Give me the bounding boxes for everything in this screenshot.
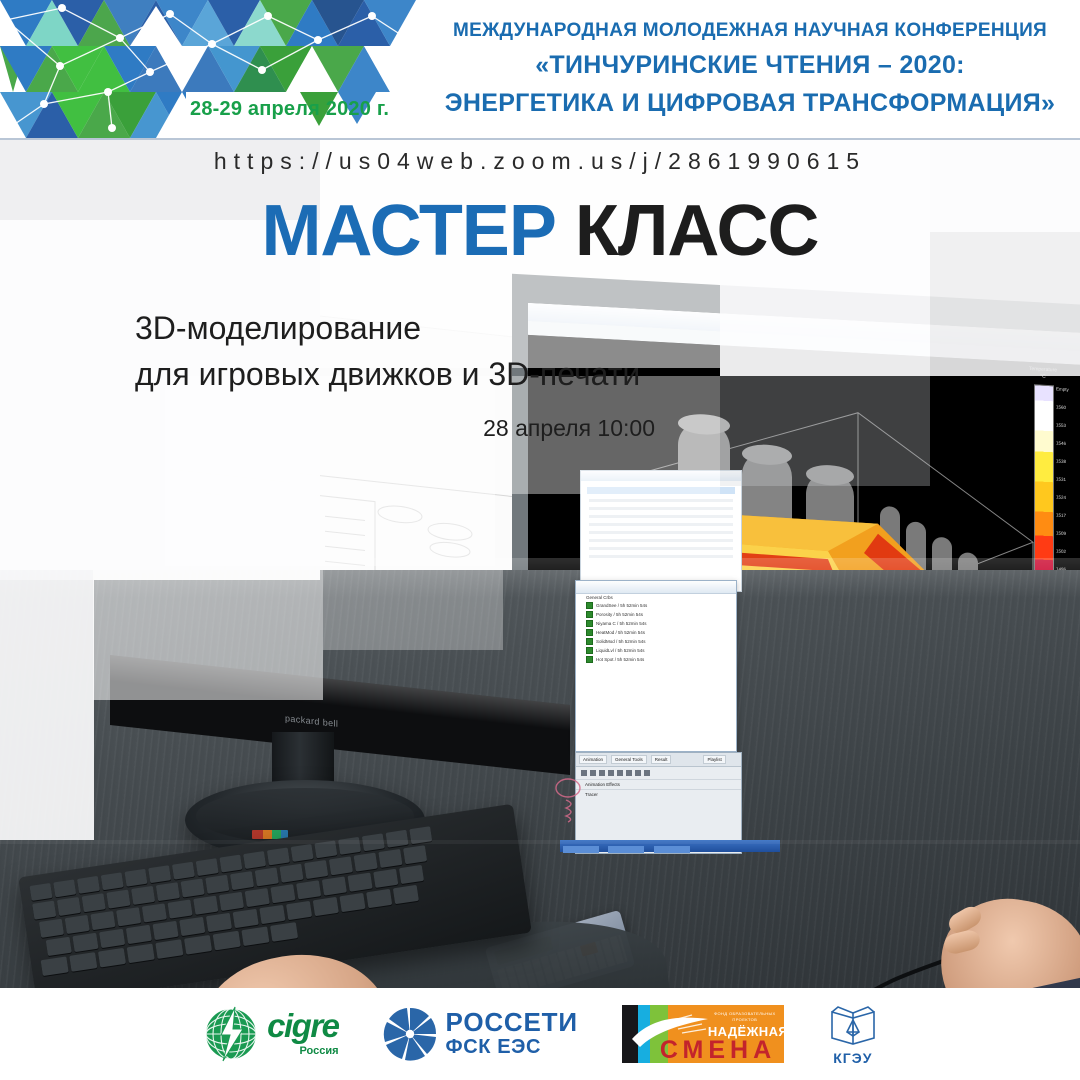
tree-item-label: GrandSee / 5h 52min 54s [596, 603, 647, 608]
keyboard-key[interactable] [409, 826, 432, 844]
keyboard-key[interactable] [366, 889, 392, 908]
keyboard-key[interactable] [373, 869, 398, 888]
result-tree-rows[interactable]: General CrbsGrandSee / 5h 52min 54sPoros… [576, 594, 736, 664]
smena-badge: ФОНД ОБРАЗОВАТЕЛЬНЫХ ПРОЕКТОВ НАДЁЖНАЯ С… [622, 1005, 784, 1063]
panel-tab[interactable]: Animation [579, 755, 607, 764]
keyboard-key[interactable] [101, 872, 124, 890]
keyboard-key[interactable] [41, 956, 69, 976]
keyboard-key[interactable] [57, 897, 81, 916]
keyboard-key[interactable] [399, 865, 424, 884]
keyboard-key[interactable] [82, 893, 106, 912]
keyboard-key[interactable] [241, 926, 269, 946]
keyboard-key[interactable] [179, 917, 205, 936]
conference-header-banner: 28-29 апреля 2020 г. МЕЖДУНАРОДНАЯ МОЛОД… [0, 0, 1080, 140]
conference-title-block: МЕЖДУНАРОДНАЯ МОЛОДЕЖНАЯ НАУЧНАЯ КОНФЕРЕ… [420, 0, 1080, 140]
animation-transport-controls[interactable] [576, 767, 741, 779]
tree-item[interactable]: GrandSee / 5h 52min 54s [576, 601, 736, 610]
colorbar-tick: 1517 [1056, 513, 1080, 519]
keyboard-key[interactable] [296, 880, 321, 899]
keyboard-key[interactable] [339, 893, 365, 912]
tree-item[interactable]: General Crbs [576, 594, 736, 601]
keyboard-key[interactable] [124, 869, 147, 887]
page-title: МАСТЕР КЛАСС [0, 195, 1080, 267]
colorbar-tick: 1546 [1056, 441, 1080, 447]
keyboard-key[interactable] [348, 873, 373, 892]
keyboard-key[interactable] [106, 890, 130, 909]
tree-item-checkbox[interactable] [586, 611, 593, 618]
keyboard-key[interactable] [184, 935, 212, 955]
cigre-name: cigre [267, 1011, 338, 1041]
panel-tab[interactable]: Result [651, 755, 672, 764]
colorbar-tick: 1531 [1056, 477, 1080, 483]
rosseti-fan-icon [383, 1007, 437, 1061]
keyboard-key[interactable] [338, 837, 361, 855]
sponsor-logo-bar: cigre Россия РОССЕТИ ФСК ЕЭС [0, 988, 1080, 1080]
panel-tab[interactable]: General Tools [611, 755, 647, 764]
tree-item-label: LiquidLvl / 5h 52min 54s [596, 648, 645, 653]
tree-item-label: Niyama C / 5h 52min 54s [596, 621, 647, 626]
playlist-button[interactable]: Playlist [703, 755, 725, 764]
keyboard-key[interactable] [39, 919, 64, 938]
workshop-subtitle: 3D-моделирование для игровых движков и 3… [135, 305, 755, 398]
keyboard-key[interactable] [378, 849, 402, 868]
keyboard-key[interactable] [172, 862, 195, 880]
keyboard-key[interactable] [386, 830, 409, 848]
keyboard-key[interactable] [267, 848, 290, 866]
tree-item-label: HeatMod / 5h 52min 54s [596, 630, 645, 635]
keyboard-key[interactable] [313, 897, 339, 916]
background-file-window[interactable] [580, 470, 742, 592]
tree-item-checkbox[interactable] [586, 647, 593, 654]
keyboard-key[interactable] [270, 884, 295, 903]
colorbar-tick: Empty [1056, 387, 1080, 393]
rosseti-name: РОССЕТИ [446, 1009, 578, 1035]
keyboard-key[interactable] [362, 833, 385, 851]
tree-item[interactable]: HeatMod / 5h 52min 54s [576, 628, 736, 637]
keyboard-key[interactable] [142, 903, 167, 922]
pink-annotation-scribble-icon [552, 776, 600, 828]
kgeu-name: КГЭУ [833, 1050, 872, 1066]
keyboard-key[interactable] [98, 948, 126, 968]
keyboard-key[interactable] [304, 860, 328, 879]
animation-panel-rows: Animation EffectsTracer [576, 779, 741, 799]
keyboard-key[interactable] [354, 853, 378, 872]
keyboard-key[interactable] [99, 929, 125, 948]
panel-row[interactable]: Tracer [576, 789, 741, 799]
keyboard-key[interactable] [279, 864, 303, 883]
conference-line-1: МЕЖДУНАРОДНАЯ МОЛОДЕЖНАЯ НАУЧНАЯ КОНФЕРЕ… [453, 17, 1047, 46]
taskbar-item[interactable] [563, 846, 599, 853]
keyboard-key[interactable] [255, 867, 279, 886]
keyboard-key[interactable] [245, 888, 270, 907]
keyboard-key[interactable] [291, 844, 314, 862]
smena-caption: ФОНД ОБРАЗОВАТЕЛЬНЫХ ПРОЕКТОВ [712, 1011, 778, 1023]
colorbar-tick: 1502 [1056, 549, 1080, 555]
keyboard-key[interactable] [69, 952, 97, 972]
tree-item[interactable]: LiquidLvl / 5h 52min 54s [576, 646, 736, 655]
background-window-titlebar[interactable] [581, 471, 741, 481]
tree-item[interactable]: Hot Spot / 5h 52min 54s [576, 655, 736, 664]
poster-canvas: 28-29 апреля 2020 г. МЕЖДУНАРОДНАЯ МОЛОД… [0, 0, 1080, 1080]
tree-item-label: Hot Spot / 5h 52min 54s [596, 657, 644, 662]
keyboard-key[interactable] [243, 851, 266, 869]
logo-nadezhnaya-smena[interactable]: ФОНД ОБРАЗОВАТЕЛЬНЫХ ПРОЕКТОВ НАДЁЖНАЯ С… [622, 1005, 784, 1063]
background-window-selected-row[interactable] [587, 487, 735, 494]
cigre-country: Россия [267, 1045, 338, 1057]
windows-taskbar[interactable] [560, 840, 780, 852]
logo-rosseti[interactable]: РОССЕТИ ФСК ЕЭС [383, 1007, 578, 1061]
keyboard-key[interactable] [90, 911, 115, 930]
tree-item-checkbox[interactable] [586, 656, 593, 663]
keyboard-key[interactable] [30, 883, 53, 901]
keyboard-key[interactable] [156, 882, 180, 901]
desk-highlight [0, 558, 1080, 598]
rosseti-division: ФСК ЕЭС [446, 1035, 578, 1059]
keyboard-key[interactable] [286, 901, 312, 920]
keyboard-key[interactable] [393, 885, 419, 904]
animation-panel-tabs[interactable]: AnimationGeneral ToolsResultPlaylist [576, 753, 741, 767]
taskbar-item[interactable] [608, 846, 644, 853]
page-title-part-klass: КЛАСС [575, 191, 819, 271]
tree-item-checkbox[interactable] [586, 638, 593, 645]
keyboard-key[interactable] [314, 840, 337, 858]
colorbar-tick: 1538 [1056, 459, 1080, 465]
taskbar-item[interactable] [654, 846, 690, 853]
keyboard-key[interactable] [131, 886, 155, 905]
keyboard-key[interactable] [196, 858, 219, 876]
tree-item-checkbox[interactable] [586, 620, 593, 627]
keyboard-key[interactable] [32, 901, 56, 920]
tree-item-label: Porosity / 5h 52min 54s [596, 612, 643, 617]
keyboard-key[interactable] [230, 871, 254, 890]
conference-logo-triangles-icon: 28-29 апреля 2020 г. [0, 0, 420, 140]
cigre-globe-icon [202, 1005, 260, 1063]
keyboard-key[interactable] [65, 915, 90, 934]
rosseti-wordmark: РОССЕТИ ФСК ЕЭС [446, 1009, 578, 1059]
keyboard-key[interactable] [219, 855, 242, 873]
keyboard-key[interactable] [168, 899, 193, 918]
keyboard-key[interactable] [126, 925, 152, 944]
keyboard-key[interactable] [322, 876, 347, 895]
keyboard-key[interactable] [403, 845, 427, 864]
conference-line-2: «ТИНЧУРИНСКИЕ ЧТЕНИЯ – 2020: [535, 46, 965, 85]
colorbar-tick: 1553 [1056, 423, 1080, 429]
tree-item-label: SolidMod / 5h 52min 54s [596, 639, 646, 644]
zoom-meeting-url[interactable]: https://us04web.zoom.us/j/2861990615 [0, 148, 1080, 175]
tree-item[interactable]: Niyama C / 5h 52min 54s [576, 619, 736, 628]
tree-item[interactable]: SolidMod / 5h 52min 54s [576, 637, 736, 646]
keyboard-key[interactable] [148, 865, 171, 883]
keyboard-key[interactable] [233, 909, 259, 928]
keyboard-key[interactable] [46, 937, 72, 956]
cigre-wordmark: cigre Россия [267, 1011, 338, 1057]
keyboard-key[interactable] [206, 913, 232, 932]
colorbar-tick: 1524 [1056, 495, 1080, 501]
subtitle-line-2: для игровых движков и 3D-печати [135, 351, 755, 397]
conference-date-label: 28-29 апреля 2020 г. [190, 98, 389, 121]
colorbar-tick: 1560 [1056, 405, 1080, 411]
keyboard-key[interactable] [127, 944, 155, 964]
result-tree-window[interactable]: General CrbsGrandSee / 5h 52min 54sPoros… [575, 580, 737, 752]
workshop-datetime: 28 апреля 10:00 [135, 415, 655, 442]
keyboard-key[interactable] [155, 939, 183, 959]
keyboard-key[interactable] [77, 876, 100, 894]
keyboard-key[interactable] [53, 879, 76, 897]
kgeu-book-icon [828, 1002, 878, 1048]
subtitle-line-1: 3D-моделирование [135, 305, 755, 351]
smena-name-bottom: СМЕНА [660, 1036, 776, 1063]
logo-kgeu[interactable]: КГЭУ [828, 1002, 878, 1066]
keyboard-key[interactable] [116, 907, 141, 926]
keyboard-key[interactable] [270, 922, 298, 942]
keyboard-key[interactable] [193, 896, 218, 915]
tree-item[interactable]: Porosity / 5h 52min 54s [576, 610, 736, 619]
animation-panel[interactable]: AnimationGeneral ToolsResultPlaylist Ani… [575, 752, 742, 854]
keyboard-key[interactable] [153, 921, 179, 940]
tree-item-checkbox[interactable] [586, 602, 593, 609]
result-tree-titlebar[interactable] [576, 581, 736, 594]
panel-row[interactable]: Animation Effects [576, 779, 741, 789]
keyboard-key[interactable] [219, 892, 244, 911]
keyboard-key[interactable] [205, 875, 229, 894]
tree-item-label: General Crbs [586, 595, 613, 600]
keyboard-key[interactable] [72, 933, 98, 952]
keyboard-key[interactable] [259, 905, 285, 924]
keyboard-key[interactable] [329, 856, 353, 875]
conference-line-3: ЭНЕРГЕТИКА И ЦИФРОВАЯ ТРАНСФОРМАЦИЯ» [445, 84, 1055, 123]
logo-cigre[interactable]: cigre Россия [202, 1005, 338, 1063]
colorbar-tick: 1509 [1056, 531, 1080, 537]
tree-item-checkbox[interactable] [586, 629, 593, 636]
page-title-part-master: МАСТЕР [261, 191, 555, 271]
keyboard-key[interactable] [213, 931, 241, 951]
keyboard-key[interactable] [181, 878, 205, 897]
